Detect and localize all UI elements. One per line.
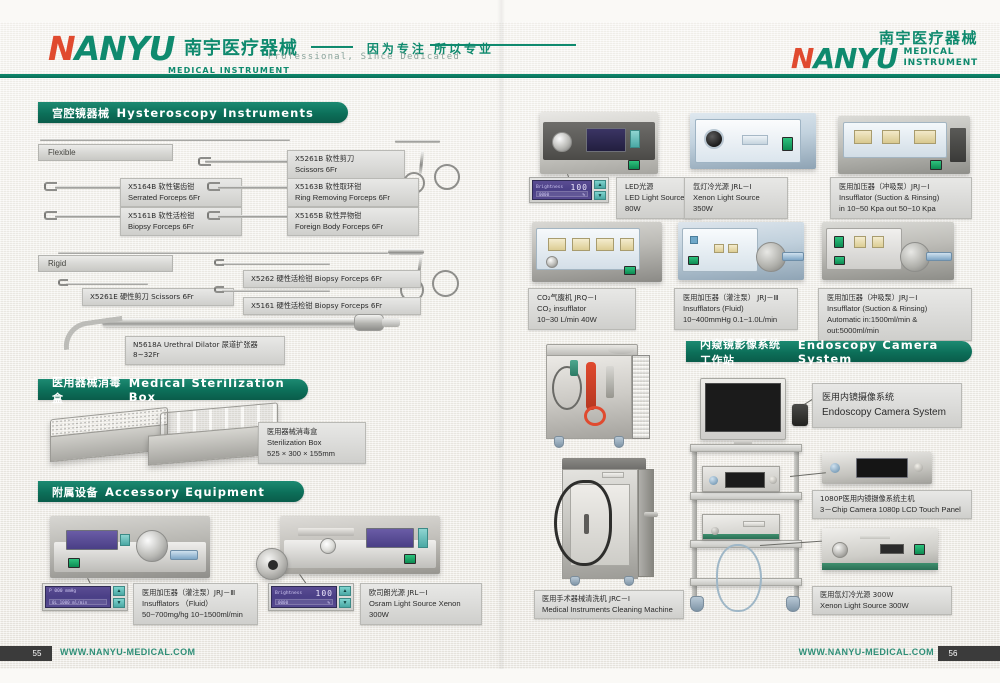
brand-rest: ANYU [75, 29, 175, 68]
instrument-jaw-x5164b [44, 182, 57, 191]
caption-co2-cn: CO₂气腹机 JRQ－Ⅰ [537, 293, 627, 303]
device-osram-light-source [280, 516, 440, 574]
caption-xenon-300w-cn: 医用氙灯冷光源 300W [820, 590, 944, 600]
caption-xenon-300w-en: Xenon Light Source 300W [820, 600, 944, 611]
footer-url-left[interactable]: WWW.NANYU-MEDICAL.COM [60, 647, 195, 657]
caption-insufflator-fluid-2-cn: 医用加压器（灌注泵） JRJ－Ⅲ [683, 293, 789, 303]
caption-insufflator-suction-1: 医用加压器（冲吸泵）JRJ－Ⅰ Insufflator (Suction & R… [830, 177, 972, 219]
brand-subtitle-right: MEDICAL INSTRUMENT [903, 47, 978, 73]
page-margin-bottom [0, 669, 1000, 683]
readout-down-button-3[interactable]: ▼ [594, 191, 606, 200]
readout-up-button-3[interactable]: ▲ [594, 180, 606, 189]
instrument-jaw-x5262 [214, 259, 224, 266]
cart-shelf-2 [690, 492, 802, 500]
page-header: NANYU 南宇医疗器械 因为专注 所以专业 MEDICAL INSTRUMEN… [0, 22, 1000, 77]
footer-page-number-right: 56 [938, 646, 968, 661]
tag-flexible: Flexible [38, 144, 173, 161]
page-footer: 55 WWW.NANYU-MEDICAL.COM WWW.NANYU-MEDIC… [0, 643, 1000, 669]
camera-control-unit [702, 466, 780, 492]
section-header-sterilization-en: Medical Sterilization Box [129, 376, 292, 404]
caption-x5165b: X5165B 软性异物钳 Foreign Body Forceps 6Fr [287, 207, 419, 236]
endoscopy-trolley [690, 444, 808, 616]
brand-rest-right: ANYU [813, 42, 897, 75]
readout-up-button-1[interactable]: ▲ [113, 586, 125, 596]
brand-wordmark: NANYU [48, 32, 174, 65]
page-gutter [497, 0, 505, 683]
caption-x5163b-cn: X5163B 软性取环钳 [295, 182, 411, 192]
readout-led-light-source: Brightness 100 0000 % ▲▼ [529, 177, 609, 203]
readout-insufflator-row2: 0L 1000 ml/min [52, 600, 87, 605]
caption-camera-host-en: 3－Chip Camera 1080p LCD Touch Panel [820, 504, 964, 515]
readout-insufflator: P 000 mmHg 0L 1000 ml/min ▲▼ [42, 583, 128, 611]
logo-right: 南宇医疗器械 NANYU MEDICAL INSTRUMENT [791, 30, 978, 73]
header-dash-rule [311, 46, 353, 48]
caption-led-power: 80W [625, 203, 693, 214]
device-insufflator-fluid-2 [678, 222, 804, 280]
section-header-camera-system-cn: 内窥镜影像系统工作站 [700, 336, 791, 368]
caption-x5161b-en: Biopsy Forceps 6Fr [128, 221, 234, 232]
light-adapter-disc [256, 548, 288, 580]
readout-up-button-2[interactable]: ▲ [339, 586, 351, 596]
caption-xenon-en: Xenon Light Source [693, 192, 779, 203]
caption-cleaning-machine-en: Medical Instruments Cleaning Machine [542, 604, 676, 615]
caption-osram-power: 300W [369, 609, 473, 620]
caption-insufflator-suction-2-spec: Automatic in:1500ml/min & out:5000ml/min [827, 314, 963, 336]
brand-subtitle-right-line2: INSTRUMENT [903, 58, 978, 69]
instrument-jaw-x5163b [207, 182, 220, 191]
caption-x5165b-en: Foreign Body Forceps 6Fr [295, 221, 411, 232]
caption-insufflator-fluid: 医用加压器（灌注泵）JRJ－Ⅲ Insufflators （Fluid） 50~… [133, 583, 258, 625]
caption-xenon-cn: 氙灯冷光源 JRL－Ⅰ [693, 182, 779, 192]
tag-rigid-label: Rigid [48, 259, 66, 268]
caption-xenon-300w: 医用氙灯冷光源 300W Xenon Light Source 300W [812, 586, 952, 615]
section-header-accessory-en: Accessory Equipment [105, 485, 265, 499]
caption-co2-spec: 10~30 L/min 40W [537, 314, 627, 325]
caption-cleaning-machine: 医用手术器械清洗机 JRC－Ⅰ Medical Instruments Clea… [534, 590, 684, 619]
monitor-screen [705, 383, 781, 432]
section-header-accessory: 附属设备 Accessory Equipment [38, 481, 304, 502]
cart-cable [716, 544, 762, 612]
device-insufflator-suction-2 [822, 222, 954, 280]
caption-camera-system-cn: 医用内镜摄像系统 [822, 391, 952, 405]
tag-flexible-label: Flexible [48, 148, 76, 157]
section-header-camera-system: 内窥镜影像系统工作站 Endoscopy Camera System [686, 341, 972, 362]
instrument-jaw-x5161 [214, 286, 224, 293]
forceps-link-top [419, 150, 424, 174]
caption-x5261b-en: Scissors 6Fr [295, 164, 397, 175]
caption-x5164b-en: Serrated Forceps 6Fr [128, 192, 234, 203]
device-co2-insufflator [532, 222, 662, 282]
rigid-scope-collar [388, 249, 424, 255]
device-xenon-300w [822, 528, 938, 570]
forceps-ring-b-bottom [432, 270, 459, 297]
readout-led-sub-label: 0000 [539, 192, 549, 197]
section-header-accessory-cn: 附属设备 [52, 484, 98, 500]
caption-insufflator-fluid-2: 医用加压器（灌注泵） JRJ－Ⅲ Insufflators (Fluid) 10… [674, 288, 798, 330]
caption-insufflator-suction-1-en: Insufflator (Suction & Rinsing) [839, 192, 963, 203]
readout-brightness-value: 100 [316, 589, 333, 598]
device-cleaning-machine-cabinet [540, 458, 666, 586]
section-header-hysteroscopy: 宫腔镜器械 Hysteroscopy Instruments [38, 102, 348, 123]
section-header-sterilization-cn: 医用器械消毒盒 [52, 374, 122, 406]
catalog-page: NANYU 南宇医疗器械 因为专注 所以专业 MEDICAL INSTRUMEN… [0, 0, 1000, 683]
header-long-rule [430, 44, 576, 46]
device-cleaning-machine-top [540, 344, 654, 454]
readout-led-unit-label: % [582, 192, 585, 197]
device-xenon-light-source [690, 113, 816, 169]
section-header-camera-system-en: Endoscopy Camera System [798, 338, 956, 366]
caption-camera-system-en: Endoscopy Camera System [822, 405, 952, 420]
caption-x5261b: X5261B 软性剪刀 Scissors 6Fr [287, 150, 405, 179]
readout-brightness-label: Brightness [275, 591, 302, 596]
header-divider [0, 74, 1000, 78]
caption-sterilization-box-en: Sterilization Box [267, 437, 357, 448]
instrument-shaft-x5262 [222, 263, 330, 265]
brand-wordmark-right: NANYU [791, 45, 898, 73]
caption-insufflator-fluid-2-spec: 10~400mmHg 0.1~1.0L/min [683, 314, 789, 325]
caption-xenon-power: 350W [693, 203, 779, 214]
caption-sterilization-box: 医用器械消毒盒 Sterilization Box 525 × 300 × 15… [258, 422, 366, 464]
flexible-scope-shaft [40, 139, 290, 141]
forceps-ring-b-top [434, 164, 460, 190]
caption-camera-system: 医用内镜摄像系统 Endoscopy Camera System [812, 383, 962, 428]
caption-led-en: LED Light Source [625, 192, 693, 203]
caption-sterilization-box-dims: 525 × 300 × 155mm [267, 448, 357, 459]
caption-x5163b: X5163B 软性取环钳 Ring Removing Forceps 6Fr [287, 178, 419, 207]
instrument-jaw-x5261b [198, 157, 211, 166]
camera-head [792, 404, 808, 426]
caption-osram-en: Osram Light Source Xenon [369, 598, 473, 609]
readout-led-brightness-label: Brightness [536, 185, 563, 190]
device-insufflator-fluid [50, 516, 210, 578]
readout-down-button-1[interactable]: ▼ [113, 598, 125, 608]
caption-x5262-label: X5262 硬性活检钳 Biopsy Forceps 6Fr [251, 274, 382, 284]
caption-co2-en: CO₂ insufflator [537, 303, 627, 314]
caption-x5164b: X5164B 软性锯齿钳 Serrated Forceps 6Fr [120, 178, 242, 207]
caption-insufflator-fluid-en: Insufflators （Fluid） [142, 598, 249, 609]
caption-insufflator-fluid-spec: 50~700mg/hg 10~1500ml/min [142, 609, 249, 620]
device-led-light-source [540, 112, 658, 174]
footer-page-number-left: 55 [22, 646, 52, 661]
caption-insufflator-fluid-cn: 医用加压器（灌注泵）JRJ－Ⅲ [142, 588, 249, 598]
readout-insufflator-row1: P 000 mmHg [49, 589, 76, 594]
caption-co2-insufflator: CO₂气腹机 JRQ－Ⅰ CO₂ insufflator 10~30 L/min… [528, 288, 636, 330]
caption-xenon-light-source: 氙灯冷光源 JRL－Ⅰ Xenon Light Source 350W [684, 177, 788, 219]
forceps-shaft-top [395, 140, 440, 143]
instrument-shaft-x5261e [66, 283, 148, 285]
caption-n5618a: N5618A Urethral Dilator 尿道扩张器 8~32Fr [125, 336, 285, 365]
section-header-hysteroscopy-en: Hysteroscopy Instruments [117, 106, 315, 120]
instrument-jaw-x5165b [207, 211, 220, 220]
caption-insufflator-suction-1-spec: in 10~50 Kpa out 50~10 Kpa [839, 203, 963, 214]
cart-caster-right [786, 596, 800, 612]
readout-unit-label: % [327, 600, 330, 605]
caption-osram-light-source: 欧司朗光源 JRL－Ⅰ Osram Light Source Xenon 300… [360, 583, 482, 625]
caption-sterilization-box-cn: 医用器械消毒盒 [267, 427, 357, 437]
device-insufflator-suction-1 [838, 116, 970, 174]
caption-camera-host-cn: 1080P医用内镜摄像系统主机 [820, 494, 964, 504]
cart-caster-left [690, 596, 704, 612]
caption-x5165b-cn: X5165B 软性异物钳 [295, 211, 411, 221]
cart-shelf-1 [690, 444, 802, 452]
caption-osram-cn: 欧司朗光源 JRL－Ⅰ [369, 588, 473, 598]
instrument-jaw-x5261e [58, 279, 68, 286]
caption-insufflator-suction-2: 医用加压器（冲吸泵）JRJ－Ⅰ Insufflator (Suction & R… [818, 288, 972, 341]
caption-camera-host: 1080P医用内镜摄像系统主机 3－Chip Camera 1080p LCD … [812, 490, 972, 519]
caption-x5161b: X5161B 软性活检钳 Biopsy Forceps 6Fr [120, 207, 242, 236]
instrument-shaft-x5161 [222, 290, 330, 292]
caption-x5161-label: X5161 硬性活检钳 Biopsy Forceps 6Fr [251, 301, 382, 311]
caption-x5261b-cn: X5261B 软性剪刀 [295, 154, 397, 164]
caption-x5261e: X5261E 硬性剪刀 Scissors 6Fr [82, 288, 234, 306]
instrument-jaw-x5161b [44, 211, 57, 220]
caption-x5261e-label: X5261E 硬性剪刀 Scissors 6Fr [90, 292, 194, 302]
slogan-english: Professional, Since Dedicated [268, 52, 460, 62]
readout-sub-label: 0000 [278, 600, 288, 605]
readout-light-source: Brightness 100 0000 % ▲▼ [268, 583, 354, 611]
caption-x5163b-en: Ring Removing Forceps 6Fr [295, 192, 411, 203]
caption-led-cn: LED光源 [625, 182, 693, 192]
section-header-hysteroscopy-cn: 宫腔镜器械 [52, 105, 110, 121]
caption-n5618a-label: N5618A Urethral Dilator 尿道扩张器 8~32Fr [133, 340, 277, 361]
caption-insufflator-suction-2-en: Insufflator (Suction & Rinsing) [827, 303, 963, 314]
cart-light-source-unit [702, 514, 780, 540]
caption-insufflator-suction-1-cn: 医用加压器（冲吸泵）JRJ－Ⅰ [839, 182, 963, 192]
rigid-scope-shaft [58, 252, 388, 254]
caption-cleaning-machine-cn: 医用手术器械清洗机 JRC－Ⅰ [542, 594, 676, 604]
brand-subtitle-right-line1: MEDICAL [903, 47, 978, 58]
brand-initial: N [48, 29, 75, 68]
caption-insufflator-fluid-2-en: Insufflators (Fluid) [683, 303, 789, 314]
device-camera-host [822, 452, 932, 484]
readout-down-button-2[interactable]: ▼ [339, 598, 351, 608]
tag-rigid: Rigid [38, 255, 173, 272]
caption-x5262: X5262 硬性活检钳 Biopsy Forceps 6Fr [243, 270, 421, 288]
brand-initial-right: N [791, 42, 813, 75]
monitor-frame [700, 378, 786, 440]
section-header-sterilization: 医用器械消毒盒 Medical Sterilization Box [38, 379, 308, 400]
page-margin-top [0, 0, 1000, 22]
caption-insufflator-suction-2-cn: 医用加压器（冲吸泵）JRJ－Ⅰ [827, 293, 963, 303]
footer-url-right[interactable]: WWW.NANYU-MEDICAL.COM [799, 647, 934, 657]
